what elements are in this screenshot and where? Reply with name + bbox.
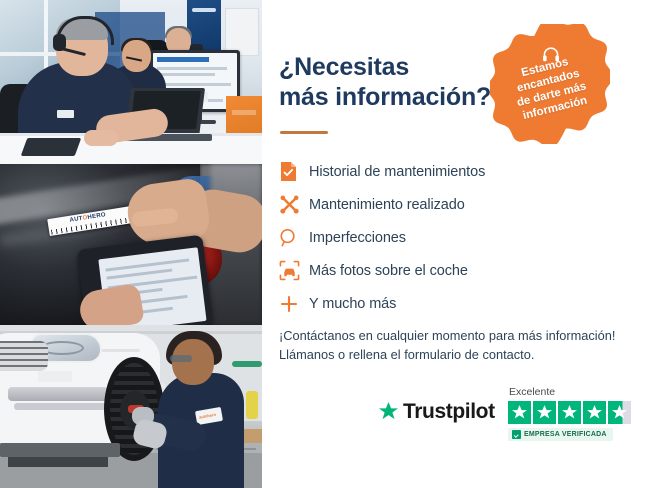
bumper-vent xyxy=(8,387,108,401)
agent-hand xyxy=(84,130,118,146)
agent-name-badge xyxy=(57,110,74,118)
car-grille xyxy=(0,341,48,371)
desk-tablet xyxy=(21,138,82,156)
trustpilot-wordmark: Trustpilot xyxy=(403,400,495,424)
paragraph-line-2: Llámanos o rellena el formulario de cont… xyxy=(279,345,635,364)
contact-paragraph: ¡Contáctanos en cualquier momento para m… xyxy=(279,326,635,364)
mechanic-head xyxy=(172,339,214,385)
car-lift-arm xyxy=(0,443,120,457)
ruler-brand-c: HERO xyxy=(87,212,106,221)
page-title: ¿Necesitas más información? xyxy=(279,52,509,112)
list-item: Imperfecciones xyxy=(279,221,629,254)
mechanic-patch-label: autohero xyxy=(199,412,217,420)
mechanic-tire-inspection-photo: autohero xyxy=(0,325,262,488)
ruler-brand-a: AUT xyxy=(69,216,83,224)
tools-wrench-screwdriver-icon xyxy=(279,194,309,216)
license-plate xyxy=(38,371,72,382)
trustpilot-rating-label: Excelente xyxy=(509,386,555,398)
list-item-label: Historial de mantenimientos xyxy=(309,164,485,180)
title-divider xyxy=(280,131,328,134)
green-hose xyxy=(232,361,262,367)
feature-list: Historial de mantenimientos M xyxy=(279,155,629,320)
star-1 xyxy=(508,401,531,424)
car-scan-icon xyxy=(279,260,309,282)
plus-icon xyxy=(279,293,309,315)
call-center-agents-photo xyxy=(0,0,262,164)
trustpilot-star-icon xyxy=(378,402,399,422)
car-inspection-ruler-tablet-photo: AUTOHERO xyxy=(0,164,262,325)
list-item: Historial de mantenimientos xyxy=(279,155,629,188)
safety-glasses xyxy=(170,355,192,362)
star-3 xyxy=(558,401,581,424)
promo-card: AUTOHERO xyxy=(0,0,650,488)
star-4 xyxy=(583,401,606,424)
list-item-label: Mantenimiento realizado xyxy=(309,197,465,213)
verified-check-icon xyxy=(512,430,521,439)
list-item: Mantenimiento realizado xyxy=(279,188,629,221)
verified-label: EMPRESA VERIFICADA xyxy=(524,431,607,438)
list-item: Y mucho más xyxy=(279,287,629,320)
whiteboard xyxy=(225,8,259,56)
document-check-icon xyxy=(279,161,309,183)
list-item-label: Más fotos sobre el coche xyxy=(309,263,468,279)
list-item-label: Imperfecciones xyxy=(309,230,406,246)
paragraph-line-1: ¡Contáctanos en cualquier momento para m… xyxy=(279,326,635,345)
star-2 xyxy=(533,401,556,424)
trustpilot-logo[interactable]: Trustpilot xyxy=(378,400,495,424)
star-5-partial xyxy=(608,401,631,424)
content-panel: Estamos encantados de darte más informac… xyxy=(262,0,650,488)
trustpilot-widget[interactable]: Trustpilot Excelente xyxy=(377,386,650,448)
shelf-bottle-yellow xyxy=(246,391,258,419)
car-lift-base xyxy=(8,457,108,467)
magnifier-icon xyxy=(279,227,309,249)
list-item: Más fotos sobre el coche xyxy=(279,254,629,287)
list-item-label: Y mucho más xyxy=(309,296,396,312)
verified-company-badge: EMPRESA VERIFICADA xyxy=(508,428,613,441)
photo-column: AUTOHERO xyxy=(0,0,262,488)
lower-bumper xyxy=(14,403,106,410)
headline-line-2: más información? xyxy=(279,82,509,112)
headline-line-1: ¿Necesitas xyxy=(279,52,509,82)
trustpilot-stars xyxy=(508,401,631,424)
